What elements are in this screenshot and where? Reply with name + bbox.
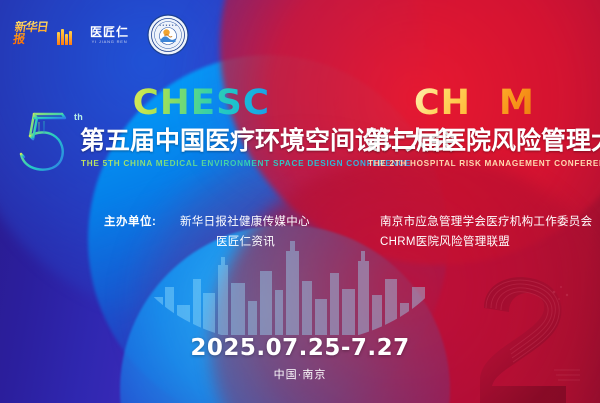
organizer-item: 南京市应急管理学会医疗机构工作委员会: [380, 212, 592, 232]
chrm-english-title: THE 2TH HOSPITAL RISK MANAGEMENT CONFERE…: [368, 160, 600, 168]
chesc-english-title: THE 5TH CHINA MEDICAL ENVIRONMENT SPACE …: [81, 160, 411, 168]
yijiangren-logo-subtext: YI JIANG REN: [90, 40, 129, 44]
chrm-chinese-title: 第二届医院风险管理大会: [366, 128, 600, 153]
numeral-five-icon: [14, 108, 76, 174]
event-date: 2025.07.25-7.27: [0, 336, 600, 361]
numeral-ordinal-suffix: th: [74, 112, 83, 122]
sponsor-logo-row: 新华日报 医匠仁 YI JIANG REN ★ ★ ★ ★ ★ ★: [14, 14, 189, 56]
yijiangren-logo: 医匠仁 YI JIANG REN: [90, 26, 129, 44]
chrm-acronym: CHRM: [414, 86, 535, 121]
chesc-conference-block: th CHESC 第五届中国医疗环境空间设计大会 THE 5TH CHINA M…: [12, 86, 357, 186]
chrm-conference-block: CHRM 第二届医院风险管理大会 THE 2TH HOSPITAL RISK M…: [366, 86, 596, 186]
xinhua-logo-icon: [57, 29, 72, 45]
svg-text:· · · · · ·: · · · · · ·: [164, 50, 172, 53]
circular-seal-icon: ★ ★ ★ ★ ★ ★ · · · · · ·: [147, 14, 189, 56]
conference-titles: th CHESC 第五届中国医疗环境空间设计大会 THE 5TH CHINA M…: [0, 86, 600, 186]
svg-text:★ ★ ★ ★ ★ ★: ★ ★ ★ ★ ★ ★: [159, 24, 178, 27]
chrm-acronym-part1: CH: [414, 86, 471, 121]
organizer-item: 新华日报社健康传媒中心: [180, 212, 380, 232]
chrm-acronym-flipped-r: R: [471, 86, 499, 121]
conference-poster: 新华日报 医匠仁 YI JIANG REN ★ ★ ★ ★ ★ ★: [0, 0, 600, 403]
association-seal-logo: ★ ★ ★ ★ ★ ★ · · · · · ·: [147, 14, 189, 56]
chesc-acronym: CHESC: [133, 86, 270, 121]
organizers-section: 主办单位: 新华日报社健康传媒中心 医匠仁资讯 南京市应急管理学会医疗机构工作委…: [104, 212, 592, 252]
yijiangren-logo-text: 医匠仁: [90, 26, 129, 38]
organizers-column-b: 南京市应急管理学会医疗机构工作委员会 CHRM医院风险管理联盟: [380, 212, 592, 252]
organizer-item: 医匠仁资讯: [180, 232, 380, 252]
organizers-column-a: 新华日报社健康传媒中心 医匠仁资讯: [180, 212, 380, 252]
organizer-item: CHRM医院风险管理联盟: [380, 232, 592, 252]
xinhua-logo-text: 新华日报: [12, 21, 56, 45]
xinhua-daily-logo: 新华日报: [14, 25, 72, 45]
event-date-block: 2025.07.25-7.27 中国·南京: [0, 336, 600, 382]
organizers-label: 主办单位:: [104, 212, 180, 232]
event-location: 中国·南京: [0, 366, 600, 382]
chrm-acronym-part2: M: [499, 86, 535, 121]
